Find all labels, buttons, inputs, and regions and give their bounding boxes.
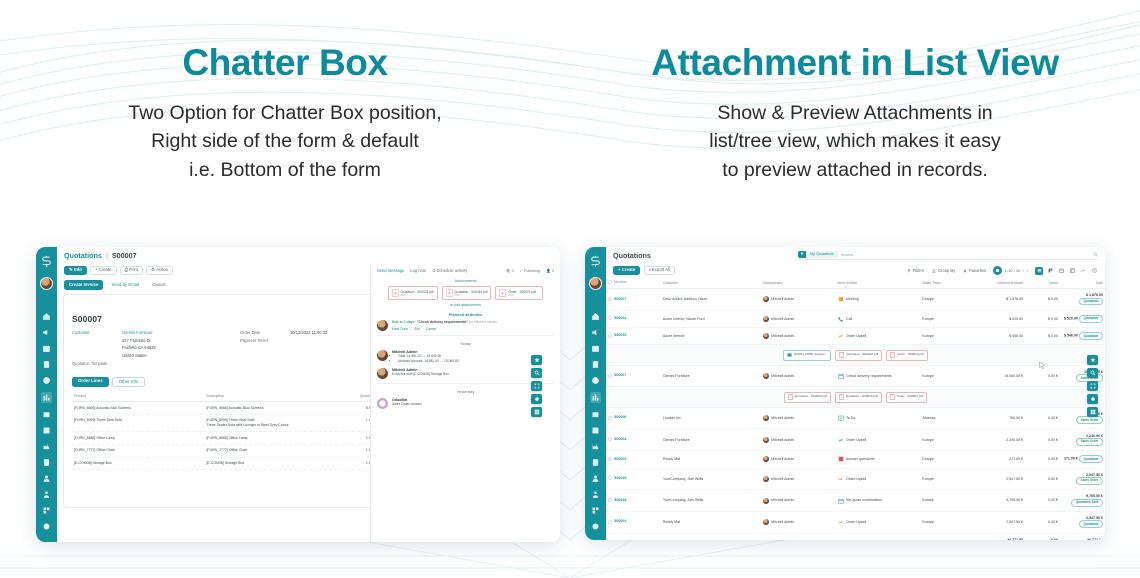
- search-input[interactable]: Search...: [841, 252, 857, 257]
- mockup-area: Quotations | S00007 ✎ Edit + Create ⎙ Pr…: [0, 247, 1140, 547]
- right-floating-toolbar: [1087, 355, 1098, 417]
- action-button[interactable]: ⚙ Action: [146, 266, 173, 275]
- row-customer: Gemini Furniture: [661, 365, 761, 387]
- attachment-chip[interactable]: Quotation - S00023.pdf: [784, 392, 831, 403]
- mouse-cursor-icon: [1039, 361, 1046, 370]
- hero-right-subtitle-line-3: to preview attached in records.: [570, 156, 1140, 185]
- col-taxes[interactable]: Taxes: [1025, 277, 1060, 289]
- message-body: Total: 14,981.00 → 15,060.00 Untaxed Amo…: [392, 354, 459, 364]
- pdf-icon: [788, 394, 793, 400]
- attachment-chip[interactable]: [FURN_0096] Custom...: [783, 350, 831, 361]
- create-button[interactable]: + Create: [613, 266, 640, 275]
- mark-done-link[interactable]: Mark Done: [392, 327, 408, 331]
- hero-left-subtitle: Two Option for Chatter Box position, Rig…: [0, 99, 570, 185]
- customer-country: United States: [122, 352, 156, 360]
- group-icon: [932, 269, 936, 273]
- attachment-chip[interactable]: Quotation - S00015.pdf: [835, 392, 882, 403]
- row-number[interactable]: S00003: [606, 451, 661, 468]
- row-total: 2,240.00 € Sales Order: [1060, 429, 1105, 451]
- customer-city: Fairfield CA 94533: [122, 344, 156, 352]
- col-total[interactable]: Total: [1060, 277, 1105, 289]
- row-team: Europe: [920, 490, 970, 512]
- row-number[interactable]: S00034: [606, 310, 661, 327]
- pdf-icon: [890, 352, 895, 358]
- pdf-icon: [890, 394, 895, 400]
- pager-range: 1-10 / 10: [1005, 268, 1021, 273]
- row-salesperson: Mitchell Admin: [761, 468, 836, 490]
- purchase-icon[interactable]: [591, 426, 600, 435]
- avatar: [763, 519, 769, 525]
- row-untaxed: 760.00 €: [970, 407, 1025, 429]
- row-activity: Order Upsell: [836, 468, 921, 490]
- table-row[interactable]: S00004 Gemini Furniture Mitchell Admin O…: [606, 429, 1105, 451]
- breadcrumb-record: S00007: [112, 251, 137, 260]
- customer-street: 317 Fairchild Dr: [122, 337, 156, 345]
- attachment-type: PDF: [455, 294, 488, 297]
- hero-left: Chatter Box Two Option for Chatter Box p…: [0, 42, 570, 185]
- breadcrumb[interactable]: Quotations | S00007: [64, 251, 137, 260]
- app-sidebar-right[interactable]: [585, 247, 606, 540]
- calendar-icon: [1059, 268, 1064, 273]
- add-attachments-button[interactable]: ⊕ Add attachments: [377, 303, 554, 307]
- question-icon: [838, 456, 844, 462]
- row-customer: Ready Mat: [661, 451, 761, 468]
- col-number[interactable]: Number: [606, 277, 661, 289]
- apps-icon[interactable]: [591, 506, 600, 515]
- avatar: [763, 476, 769, 482]
- activity-assignee: for Mitchell Admin: [469, 320, 497, 324]
- footer-total: 36,771.50: [1060, 533, 1105, 540]
- row-taxes: 0.00 €: [1025, 451, 1060, 468]
- hero-right-title: Attachment in List View: [570, 42, 1140, 85]
- send-by-email-button[interactable]: Send by Email: [106, 280, 144, 289]
- row-customer: YourCompany, Joel Willis: [661, 490, 761, 512]
- crm-icon[interactable]: [42, 376, 51, 385]
- planned-activity-item: Due in 4 days: "Check delivery requireme…: [377, 320, 554, 331]
- hero-right-subtitle-line-1: Show & Preview Attachments in: [570, 99, 1140, 128]
- col-description[interactable]: Description: [204, 391, 336, 402]
- day-separator-yesterday: Yesterday: [377, 389, 554, 394]
- list-body: S00007 Deco Addict, Addison Olson Mitche…: [606, 289, 1105, 541]
- col-salesperson[interactable]: Salesperson: [761, 277, 836, 289]
- checkbox-icon[interactable]: [608, 416, 612, 420]
- col-untaxed-amount[interactable]: Untaxed Amount: [970, 277, 1025, 289]
- checkbox-icon[interactable]: [608, 457, 612, 461]
- view-clock-button[interactable]: [1090, 267, 1098, 275]
- table-row[interactable]: S00007 Deco Addict, Addison Olson Mitche…: [606, 289, 1105, 311]
- row-salesperson: Mitchell Admin: [761, 407, 836, 429]
- page-stage: Chatter Box Two Option for Chatter Box p…: [0, 0, 1140, 578]
- search-facet[interactable]: My Quotations: [798, 251, 838, 258]
- row-taxes: 0.00 €: [1025, 468, 1060, 490]
- tab-other-info[interactable]: Other Info: [112, 377, 146, 387]
- table-row[interactable]: S00003 Ready Mat Mitchell Admin Answer q…: [606, 451, 1105, 468]
- avatar: [763, 437, 769, 443]
- line-product: [FURN_7777] Office Chair: [72, 444, 204, 457]
- calendar-icon: [838, 373, 844, 379]
- view-graph-button[interactable]: [1079, 267, 1087, 275]
- table-row[interactable]: S00002 Ready Mat Mitchell Admin Order Up…: [606, 511, 1105, 533]
- attachment-chip[interactable]: Order - S00007.pdf: [886, 392, 927, 403]
- order-date-label: Order Date: [240, 329, 286, 337]
- app-logo-icon: [588, 254, 603, 269]
- star-tool-button[interactable]: [531, 355, 542, 365]
- table-row[interactable]: S00034 Azure Interior, Nicole Ford Mitch…: [606, 310, 1105, 327]
- row-activity: Order Upsell: [836, 328, 921, 345]
- home-icon[interactable]: [42, 312, 51, 321]
- attachment-chip[interactable]: A Order - S00007.pdf PDF: [495, 286, 543, 300]
- row-number[interactable]: S00007: [606, 289, 661, 311]
- expand-icon: [534, 383, 540, 389]
- megaphone-icon[interactable]: [591, 328, 600, 337]
- grid-tool-button[interactable]: [1087, 407, 1098, 417]
- attachment-name: Quotation - S00023.pdf: [795, 395, 827, 399]
- contacts-icon[interactable]: [42, 360, 51, 369]
- call-icon: [838, 316, 844, 322]
- row-taxes: 0.00 €: [1025, 490, 1060, 512]
- col-customer[interactable]: Customer: [661, 277, 761, 289]
- status-badge: Quotation: [1079, 332, 1103, 340]
- row-total: $ 1,876.00 Quotation: [1060, 289, 1105, 311]
- row-activity: Check delivery requirements: [836, 365, 921, 387]
- row-total: 2,947.50 € Quotation: [1060, 511, 1105, 533]
- search-icon: [1090, 370, 1096, 376]
- settings-tool-button[interactable]: [1087, 394, 1098, 404]
- row-team: Europe: [920, 328, 970, 345]
- field-labels-left: Customer Quotation Template: [72, 329, 118, 368]
- search-bar[interactable]: My Quotations Search...: [798, 251, 1098, 260]
- row-customer: YourCompany, Joel Willis: [661, 468, 761, 490]
- message-line: Untaxed Amount: 14,981.00 → 15,060.00: [398, 359, 459, 364]
- megaphone-icon[interactable]: [42, 328, 51, 337]
- footer-untaxed: 36,771.50: [970, 533, 1025, 540]
- avatar: [763, 373, 769, 379]
- inventory-icon[interactable]: [591, 410, 600, 419]
- star-tool-button[interactable]: [1087, 355, 1098, 365]
- search-tool-button[interactable]: [1087, 368, 1098, 378]
- breadcrumb-separator: |: [106, 251, 108, 260]
- recruitment-icon[interactable]: [591, 490, 600, 499]
- attachment-chip[interactable]: A Quotation - S00023.pdf PDF: [388, 286, 438, 300]
- grid-icon: [534, 409, 540, 415]
- sales-icon[interactable]: [590, 392, 601, 403]
- row-team: Europe: [920, 310, 970, 327]
- search-facet-label: My Quotations: [806, 251, 838, 258]
- attachment-name: Quotation - S00015.pdf: [846, 395, 878, 399]
- field-labels-right: Order Date Payment Terms: [240, 329, 286, 368]
- row-team: Europe: [920, 451, 970, 468]
- settings-icon[interactable]: [591, 522, 600, 531]
- line-product: [FURN_8999] Three-Seat Sofa: [72, 414, 204, 431]
- divider: [377, 383, 554, 384]
- attachment-name: Order - S00015.pdf: [897, 353, 923, 357]
- avatar: [377, 320, 388, 331]
- avatar: [377, 350, 388, 361]
- attachment-row: Quotation - S00023.pdf Quotation - S0001…: [606, 387, 1105, 407]
- attachment-chip[interactable]: Quotation - S00023.pdf: [835, 350, 882, 361]
- employees-icon[interactable]: [42, 474, 51, 483]
- form-view-body: Quotations | S00007 ✎ Edit + Create ⎙ Pr…: [57, 247, 560, 542]
- customer-value[interactable]: Gemini Furniture: [122, 329, 156, 337]
- status-badge: Sales Order: [1076, 477, 1103, 485]
- list-action-bar: + Create ⭳ Export All Filters Group By: [606, 264, 1105, 277]
- table-row[interactable]: S00006 Lumber Inc Mitchell Admin To Do A…: [606, 407, 1105, 429]
- form-fields-right: Order Date Payment Terms 10/12/2022 11:0…: [240, 329, 327, 368]
- hero-right-subtitle: Show & Preview Attachments in list/tree …: [570, 99, 1140, 185]
- row-salesperson: Mitchell Admin: [761, 511, 836, 533]
- app-sidebar-left[interactable]: [36, 247, 57, 542]
- filters-button[interactable]: Filters: [904, 267, 927, 275]
- row-untaxed: $ 546.00: [970, 328, 1025, 345]
- row-number[interactable]: S00002: [606, 511, 661, 533]
- row-number[interactable]: S00006: [606, 407, 661, 429]
- calendar-icon: [838, 498, 844, 504]
- settings-tool-button[interactable]: [531, 394, 542, 404]
- export-all-button[interactable]: ⭳ Export All: [644, 266, 675, 275]
- calendar-icon[interactable]: [42, 344, 51, 353]
- table-row[interactable]: S00019 YourCompany, Joel Willis Mitchell…: [606, 468, 1105, 490]
- page-title: Quotations: [613, 251, 651, 260]
- manufacturing-icon[interactable]: [42, 442, 51, 451]
- search-icon[interactable]: [1093, 252, 1098, 257]
- row-number[interactable]: S00018: [606, 490, 661, 512]
- row-customer: Deco Addict, Addison Olson: [661, 289, 761, 311]
- line-product: [FURN_8888] Office Lamp: [72, 432, 204, 445]
- inventory-icon[interactable]: [42, 410, 51, 419]
- col-product[interactable]: Product: [72, 391, 204, 402]
- calendar-icon[interactable]: [591, 344, 600, 353]
- crm-icon[interactable]: [591, 376, 600, 385]
- row-customer: Azure Interior: [661, 328, 761, 345]
- attachment-chip[interactable]: A Quotation - S00040.pdf PDF: [442, 286, 492, 300]
- breadcrumb-root[interactable]: Quotations: [64, 251, 102, 260]
- attachment-chip[interactable]: Order - S00015.pdf: [886, 350, 927, 361]
- row-salesperson: Mitchell Admin: [761, 365, 836, 387]
- create-invoice-button[interactable]: Create Invoice: [64, 280, 103, 289]
- attachment-name: Order - S00007.pdf: [508, 290, 535, 294]
- activity-subject: "Check delivery requirements": [417, 320, 468, 324]
- list-header: Number Customer Salesperson Next Activit…: [606, 277, 1105, 289]
- row-salesperson: Mitchell Admin: [761, 289, 836, 311]
- list-icon: [1037, 268, 1042, 273]
- checkbox-icon[interactable]: [608, 498, 612, 502]
- row-team: Europe: [920, 511, 970, 533]
- pager[interactable]: 1-10 / 10 ‹ ›: [993, 266, 1028, 275]
- pdf-icon: A: [446, 289, 453, 297]
- table-row[interactable]: S00025 Azure Interior Mitchell Admin Ord…: [606, 328, 1105, 345]
- avatar[interactable]: [40, 277, 53, 290]
- contacts-icon[interactable]: [591, 360, 600, 369]
- attachment-row: [FURN_0096] Custom... Quotation - S00023…: [606, 345, 1105, 365]
- activity-summary: Due in 4 days: "Check delivery requireme…: [392, 320, 497, 325]
- avatar: [763, 316, 769, 322]
- row-attachment-list: [FURN_0096] Custom... Quotation - S00023…: [608, 350, 1103, 361]
- activity-links: Mark Done Edit Cancel: [392, 327, 497, 331]
- checkbox-icon[interactable]: [608, 334, 612, 338]
- left-floating-toolbar: [531, 355, 542, 417]
- hero-left-subtitle-line-1: Two Option for Chatter Box position,: [0, 99, 570, 128]
- chatter-message: OdooBot Sales Order created: [377, 398, 554, 409]
- attachment-type: PDF: [401, 294, 434, 297]
- status-badge: Quotation: [1079, 455, 1103, 463]
- row-number[interactable]: S00019: [606, 468, 661, 490]
- status-badge: Sales Order: [1076, 438, 1103, 446]
- list-controls: Filters Group By Favorites: [904, 267, 989, 275]
- table-row[interactable]: S00007 Gemini Furniture Mitchell Admin C…: [606, 365, 1105, 387]
- meeting-icon: [838, 296, 844, 302]
- message-line: Sales Order created: [392, 402, 422, 407]
- row-salesperson: Mitchell Admin: [761, 328, 836, 345]
- row-total: 9,705.00 € Quotation Sent: [1060, 490, 1105, 512]
- recruitment-icon[interactable]: [42, 490, 51, 499]
- send-message-button[interactable]: Send message: [377, 268, 404, 273]
- quotation-template-label: Quotation Template: [72, 360, 118, 368]
- favorites-button[interactable]: Favorites: [960, 267, 989, 275]
- pdf-icon: [839, 352, 844, 358]
- avatar: [763, 415, 769, 421]
- pager-next-button[interactable]: ›: [1027, 268, 1028, 273]
- row-taxes: $ 0.00: [1025, 289, 1060, 311]
- attachment-type: PDF: [508, 294, 535, 297]
- row-customer: Azure Interior, Nicole Ford: [661, 310, 761, 327]
- expand-tool-button[interactable]: [531, 381, 542, 391]
- pager-prev-button[interactable]: ‹: [1023, 268, 1024, 273]
- filter-icon: [798, 251, 806, 258]
- hero-left-title: Chatter Box: [0, 42, 570, 85]
- schedule-activity-button[interactable]: ⏱ Schedule activity: [432, 268, 467, 273]
- star-icon: [1090, 357, 1096, 363]
- checkbox-icon[interactable]: [608, 280, 612, 284]
- payment-terms-value[interactable]: [290, 337, 327, 345]
- checkbox-icon[interactable]: [608, 476, 612, 480]
- table-row[interactable]: S00018 YourCompany, Joel Willis Mitchell…: [606, 490, 1105, 512]
- row-taxes: 0.00 €: [1025, 511, 1060, 533]
- payment-terms-label: Payment Terms: [240, 337, 286, 345]
- avatar: [763, 498, 769, 504]
- col-sales-team[interactable]: Sales Team: [920, 277, 970, 289]
- tab-order-lines[interactable]: Order Lines: [72, 377, 109, 387]
- row-untaxed: 2,947.50 €: [970, 511, 1025, 533]
- manufacturing-icon[interactable]: [591, 442, 600, 451]
- edit-link[interactable]: Edit: [414, 327, 420, 331]
- log-note-button[interactable]: Log note: [410, 268, 426, 273]
- follower-count[interactable]: 👤 3: [546, 268, 554, 273]
- cancel-link[interactable]: Cancel: [426, 327, 436, 331]
- row-salesperson: Mitchell Admin: [761, 490, 836, 512]
- avatar: [763, 456, 769, 462]
- attachment-name: [FURN_0096] Custom...: [794, 353, 827, 357]
- col-next-activity[interactable]: Next Activity: [836, 277, 921, 289]
- filter-icon: [907, 269, 911, 273]
- line-description: [FURN_8999] Three-Seat Sofa Three Seater…: [204, 414, 336, 431]
- checkbox-icon[interactable]: [608, 297, 612, 301]
- list-top-bar: Quotations My Quotations Search...: [606, 247, 1105, 264]
- list-view-body: Quotations My Quotations Search...: [606, 247, 1105, 540]
- star-icon: [963, 269, 967, 273]
- grid-tool-button[interactable]: [531, 407, 542, 417]
- attachment-count: 🖇 0: [506, 268, 514, 273]
- attachment-name: Order - S00007.pdf: [897, 395, 923, 399]
- planned-activities-heading: Planned activities: [377, 312, 554, 317]
- checkbox-icon[interactable]: [608, 316, 612, 320]
- settings-icon[interactable]: [42, 522, 51, 531]
- search-tool-button[interactable]: [531, 368, 542, 378]
- field-values-left: Gemini Furniture 317 Fairchild Dr Fairfi…: [122, 329, 156, 368]
- accounting-icon[interactable]: [42, 458, 51, 467]
- row-untaxed: 2,240.00 €: [970, 429, 1025, 451]
- view-pivot-button[interactable]: [1068, 267, 1076, 275]
- todo-icon: [838, 415, 844, 421]
- chatter-message: Mitchell Admin Extra line with [E-COM08]…: [377, 368, 554, 379]
- avatar: [377, 368, 388, 379]
- avatar: [763, 333, 769, 339]
- checkbox-icon[interactable]: [608, 520, 612, 524]
- row-activity: Order Upsell: [836, 511, 921, 533]
- checkbox-icon[interactable]: [608, 437, 612, 441]
- checkbox-icon[interactable]: [608, 374, 612, 378]
- create-button[interactable]: + Create: [90, 266, 117, 275]
- row-activity: Answer questions: [836, 451, 921, 468]
- pdf-icon: A: [499, 289, 506, 297]
- view-list-button[interactable]: [1035, 267, 1043, 275]
- pdf-icon: A: [392, 289, 399, 297]
- print-button[interactable]: ⎙ Print: [120, 266, 143, 275]
- row-total: 760.00 € Sales Order: [1060, 407, 1105, 429]
- status-badge: Quotation: [1079, 520, 1103, 528]
- view-kanban-button[interactable]: [1046, 267, 1054, 275]
- order-date-value[interactable]: 10/12/2022 11:00:23: [290, 329, 327, 337]
- row-activity: Order Upsell: [836, 429, 921, 451]
- status-badge: Quotation Sent: [1071, 499, 1103, 507]
- line-description: [FURN_6666] Acoustic Bloc Screens: [204, 402, 336, 415]
- row-total: 271.00 € Quotation: [1060, 451, 1105, 468]
- row-number[interactable]: S00004: [606, 429, 661, 451]
- quotation-template-value[interactable]: [122, 360, 156, 368]
- list-footer-totals: 36,771.50 0.00 36,771.50: [606, 533, 1105, 540]
- group-by-button[interactable]: Group By: [929, 267, 958, 275]
- avatar[interactable]: [589, 277, 602, 290]
- form-view-mockup: Quotations | S00007 ✎ Edit + Create ⎙ Pr…: [36, 247, 560, 542]
- row-total: $ 546.00 Quotation: [1060, 328, 1105, 345]
- message-line: Extra line with [E-COM08] Storage Box: [392, 372, 449, 377]
- edit-button[interactable]: ✎ Edit: [64, 266, 87, 275]
- customer-label: Customer: [72, 329, 118, 337]
- view-calendar-button[interactable]: [1057, 267, 1065, 275]
- row-team: Europe: [920, 429, 970, 451]
- field-values-right: 10/12/2022 11:00:23: [290, 329, 327, 368]
- apps-icon[interactable]: [42, 506, 51, 515]
- row-team: Europe: [920, 289, 970, 311]
- row-activity: Set quote confirmation: [836, 490, 921, 512]
- home-icon[interactable]: [591, 312, 600, 321]
- row-activity: Meeting: [836, 289, 921, 311]
- row-total: $ 520.00 Quotation: [1060, 310, 1105, 327]
- settings-icon: [534, 396, 540, 402]
- row-number[interactable]: S00025: [606, 328, 661, 345]
- following-button[interactable]: ✓ Following: [520, 268, 540, 273]
- expand-tool-button[interactable]: [1087, 381, 1098, 391]
- accounting-icon[interactable]: [591, 458, 600, 467]
- row-salesperson: Mitchell Admin: [761, 451, 836, 468]
- cancel-button[interactable]: Cancel: [147, 280, 170, 289]
- chatter-attachment-list: A Quotation - S00023.pdf PDF A Quotation…: [377, 286, 554, 300]
- app-logo-icon: [39, 254, 54, 269]
- row-number[interactable]: S00007: [606, 365, 661, 387]
- sales-icon[interactable]: [41, 392, 52, 403]
- purchase-icon[interactable]: [42, 426, 51, 435]
- row-untaxed: $ 1,876.00: [970, 289, 1025, 311]
- employees-icon[interactable]: [591, 474, 600, 483]
